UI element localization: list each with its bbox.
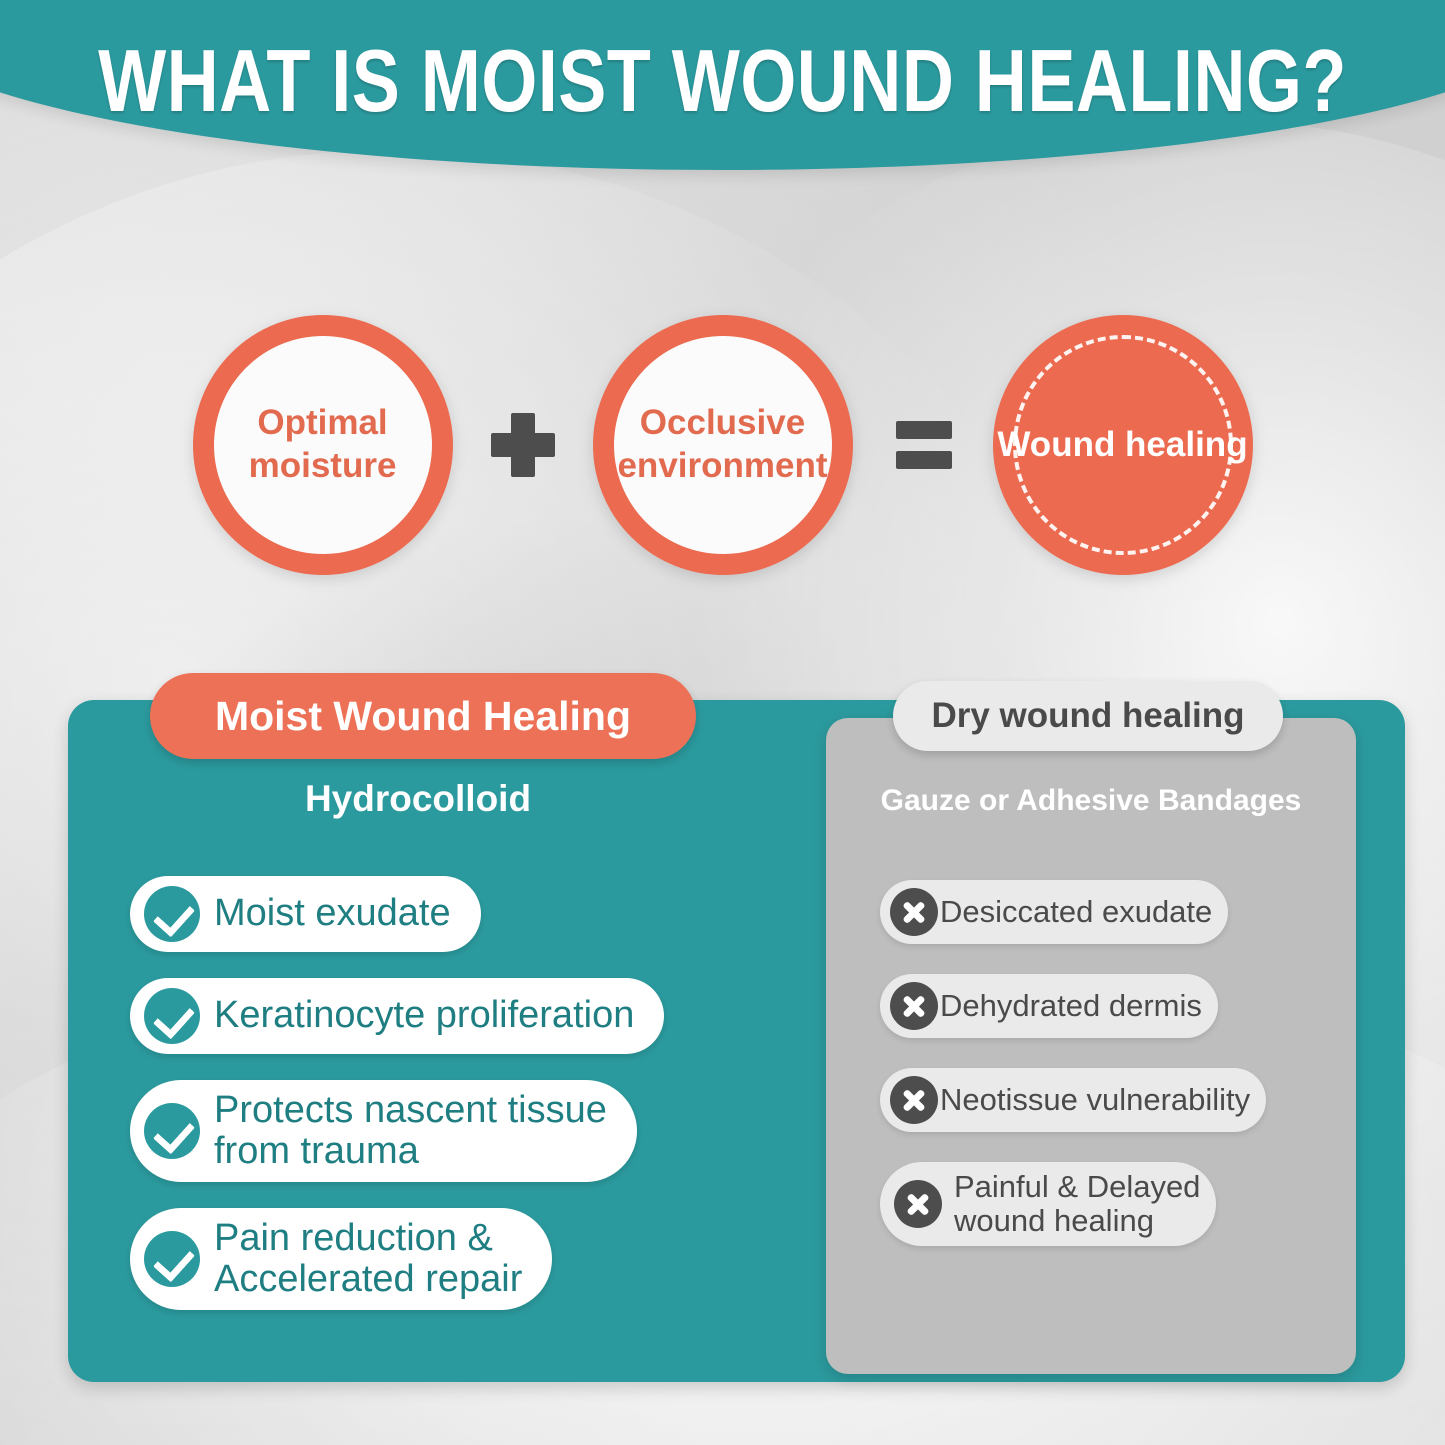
check-icon	[144, 1103, 200, 1159]
list-item: Neotissue vulnerability	[880, 1068, 1266, 1132]
list-item-label: Pain reduction & Accelerated repair	[214, 1218, 522, 1300]
list-item-label: Painful & Delayed wound healing	[954, 1170, 1200, 1238]
list-item: Keratinocyte proliferation	[130, 978, 664, 1054]
check-icon	[144, 1231, 200, 1287]
moist-benefits-list: Moist exudate Keratinocyte proliferation…	[130, 876, 790, 1336]
equals-icon	[853, 417, 993, 473]
page-title: WHAT IS MOIST WOUND HEALING?	[32, 30, 1414, 132]
cross-icon	[890, 1076, 938, 1124]
moist-panel-subtitle: Hydrocolloid	[68, 778, 768, 820]
equation-term-optimal-moisture: Optimal moisture	[193, 315, 453, 575]
cross-icon	[890, 982, 938, 1030]
equation-result-label: Wound healing	[997, 424, 1247, 467]
check-icon	[144, 886, 200, 942]
list-item-label: Dehydrated dermis	[940, 989, 1202, 1023]
equation-term-label: Optimal moisture	[214, 402, 432, 487]
moist-wound-healing-badge: Moist Wound Healing	[150, 673, 696, 759]
list-item-label: Moist exudate	[214, 893, 451, 934]
cross-icon	[894, 1180, 942, 1228]
list-item-label: Neotissue vulnerability	[940, 1083, 1250, 1117]
dry-wound-healing-badge: Dry wound healing	[893, 681, 1283, 751]
equation-term-occlusive-environment: Occlusive environment	[593, 315, 853, 575]
header-banner: WHAT IS MOIST WOUND HEALING?	[0, 0, 1445, 170]
list-item: Moist exudate	[130, 876, 481, 952]
dry-panel-subtitle: Gauze or Adhesive Bandages	[826, 784, 1356, 818]
list-item: Protects nascent tissue from trauma	[130, 1080, 637, 1182]
list-item: Dehydrated dermis	[880, 974, 1218, 1038]
list-item: Pain reduction & Accelerated repair	[130, 1208, 552, 1310]
cross-icon	[890, 888, 938, 936]
list-item-label: Desiccated exudate	[940, 895, 1212, 929]
list-item-label: Keratinocyte proliferation	[214, 995, 634, 1036]
equation-result-wound-healing: Wound healing	[993, 315, 1253, 575]
list-item: Painful & Delayed wound healing	[880, 1162, 1216, 1246]
infographic-poster: WHAT IS MOIST WOUND HEALING? Optimal moi…	[0, 0, 1445, 1445]
plus-icon	[453, 413, 593, 477]
dry-drawbacks-list: Desiccated exudate Dehydrated dermis Neo…	[880, 880, 1310, 1276]
equation-row: Optimal moisture Occlusive environment W…	[0, 300, 1445, 590]
equation-term-label: Occlusive environment	[614, 402, 832, 487]
check-icon	[144, 988, 200, 1044]
list-item: Desiccated exudate	[880, 880, 1228, 944]
list-item-label: Protects nascent tissue from trauma	[214, 1090, 607, 1172]
